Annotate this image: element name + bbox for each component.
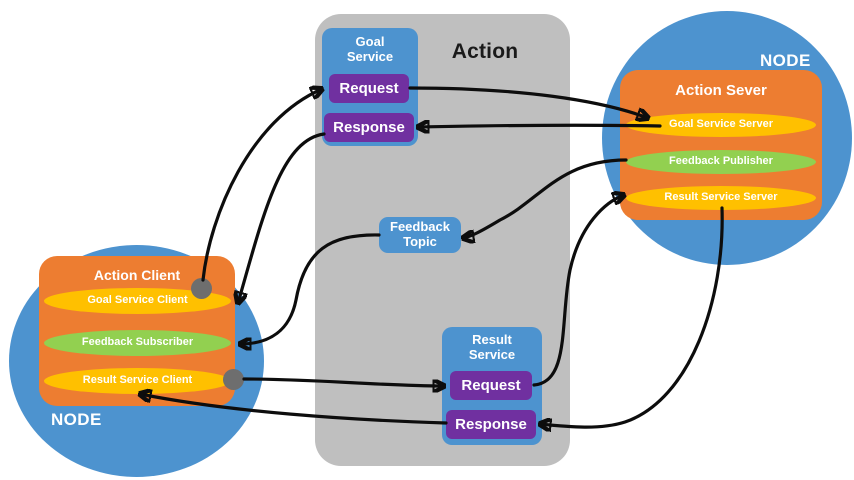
goal-service-server-pill[interactable]: Goal Service Server [626,113,816,137]
goal-service-response[interactable]: Response [324,113,414,142]
feedback-topic-line2: Topic [403,234,437,249]
result-service-title-line2: Service [469,347,515,362]
result-service-request[interactable]: Request [450,371,532,400]
feedback-topic-text: Feedback Topic [390,220,450,250]
result-service-server-pill[interactable]: Result Service Server [626,186,816,210]
result-service-response[interactable]: Response [446,410,536,439]
action-server-title: Action Sever [620,82,822,99]
feedback-topic-box[interactable]: Feedback Topic [379,217,461,253]
action-title: Action [420,40,550,64]
server-node-label: NODE [760,51,811,71]
result-service-title: Result Service [442,333,542,363]
client-node-label: NODE [51,410,102,430]
feedback-topic-line1: Feedback [390,219,450,234]
goal-service-title-line2: Service [347,49,393,64]
goal-client-connector-dot [191,278,212,299]
diagram-canvas: Action Action Client Goal Service Client… [0,0,854,480]
goal-service-request[interactable]: Request [329,74,409,103]
result-client-connector-dot [223,369,244,390]
result-service-title-line1: Result [472,332,512,347]
feedback-publisher-pill[interactable]: Feedback Publisher [626,150,816,174]
goal-service-title: Goal Service [322,35,418,65]
arrow-client-goal-request [203,89,322,280]
result-service-client-pill[interactable]: Result Service Client [44,368,231,394]
feedback-subscriber-pill[interactable]: Feedback Subscriber [44,330,231,356]
goal-service-title-line1: Goal [356,34,385,49]
arrow-goal-response-to-client [238,134,324,303]
